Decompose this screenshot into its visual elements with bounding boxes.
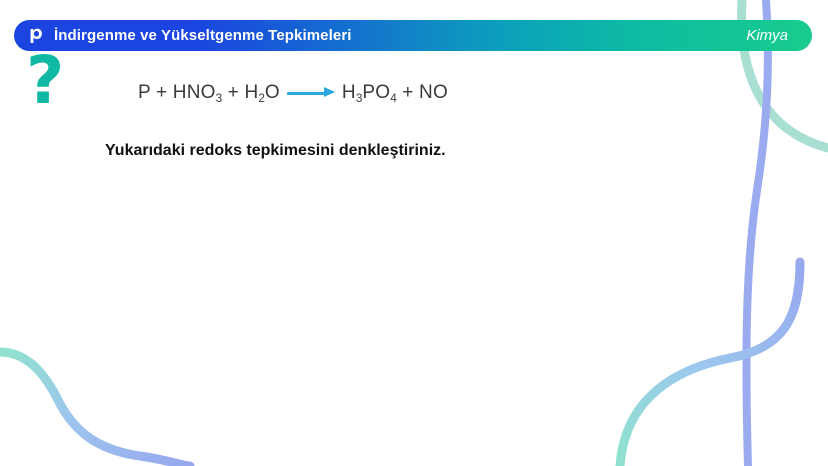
decor-curve-bottom-left [0,352,190,466]
equation-reactant-2: HNO3 [173,82,222,103]
instruction-text: Yukarıdaki redoks tepkimesini denkleştir… [105,142,446,160]
chemical-equation: P + HNO3 + H2OH3PO4 + NO [138,82,448,104]
question-mark-icon: ? [26,48,64,114]
slide-canvas: İndirgenme ve Yükseltgenme Tepkimeleri K… [0,0,828,466]
equation-plus: + [151,82,173,103]
right-arrow-icon [287,86,335,100]
header-subject-label: Kimya [746,27,794,44]
header-bar: İndirgenme ve Yükseltgenme Tepkimeleri K… [14,20,812,51]
equation-plus: + [397,82,419,103]
equation-reactant-3: H2O [244,82,279,103]
equation-product-1: H3PO4 [342,82,397,103]
brand-p-logo-icon [24,25,46,47]
header-title: İndirgenme ve Yükseltgenme Tepkimeleri [54,27,352,44]
equation-product-2: NO [419,82,448,103]
equation-plus: + [222,82,244,103]
decor-curve-periwinkle-line [746,0,767,466]
equation-reactant-1: P [138,82,151,103]
background-decoration [0,0,828,466]
decor-curve-bottom-right [620,262,800,466]
